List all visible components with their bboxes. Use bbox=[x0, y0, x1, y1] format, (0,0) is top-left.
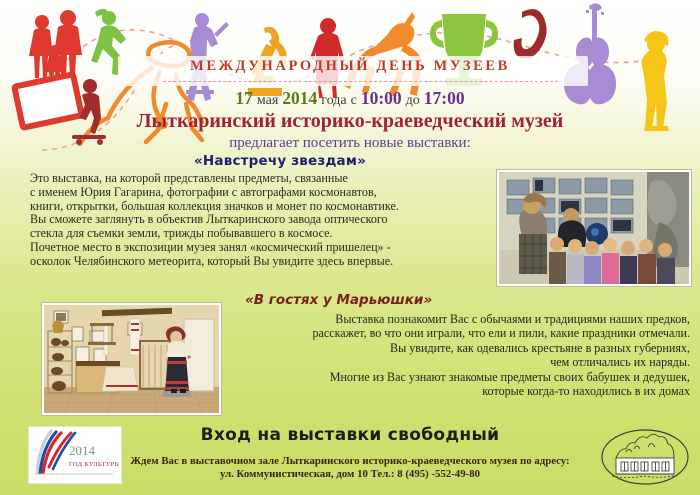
event-title: МЕЖДУНАРОДНЫЙ ДЕНЬ МУЗЕЕВ bbox=[0, 58, 700, 75]
museum-day-poster: МЕЖДУНАРОДНЫЙ ДЕНЬ МУЗЕЕВ 17 мая 2014 го… bbox=[0, 0, 700, 495]
date-word-year: года bbox=[321, 93, 346, 108]
header-dashed-divider bbox=[163, 81, 558, 82]
theater-mask-icon bbox=[514, 9, 547, 58]
exhibit-one-description: Это выставка, на которой представлены пр… bbox=[30, 172, 430, 269]
exhibit-two-photo bbox=[42, 303, 221, 415]
exhibit-two-line: Вы увидите, как одевались крестьяне в ра… bbox=[230, 341, 690, 355]
exhibit-one-photo bbox=[497, 170, 691, 286]
time-close: 17:00 bbox=[424, 88, 465, 108]
museum-name: Лыткаринский историко-краеведческий музе… bbox=[0, 110, 700, 133]
time-open: 10:00 bbox=[361, 88, 402, 108]
museum-seal bbox=[600, 428, 692, 488]
exhibit-one-line: Это выставка, на которой представлены пр… bbox=[30, 172, 430, 186]
exhibit-one-line: осколок Челябинского метеорита, который … bbox=[30, 255, 430, 269]
exhibit-one-line: стекла для съемки земли, трижды побывавш… bbox=[30, 227, 430, 241]
museum-subtitle: предлагает посетить новые выставки: bbox=[0, 135, 700, 152]
exhibit-two-title: «В гостях у Марьюшки» bbox=[245, 292, 565, 308]
exhibit-one-line: Почетное место в экспозиции музея занял … bbox=[30, 241, 430, 255]
exhibit-one-line: Вы сможете заглянуть в объектив Лыткарин… bbox=[30, 213, 430, 227]
exhibit-two-description: Выставка познакомит Вас с обычаями и тра… bbox=[230, 312, 690, 398]
date-time-line: 17 мая 2014 года с 10:00 до 17:00 bbox=[0, 88, 700, 109]
exhibit-one-line: книги, открытки, большая коллекция значк… bbox=[30, 200, 430, 214]
culture-logo-caption: ГОД КУЛЬТУРЫ bbox=[69, 461, 119, 468]
date-day: 17 bbox=[235, 88, 253, 108]
exhibit-two-line: Многие из Вас узнают знакомые предметы с… bbox=[230, 370, 690, 384]
culture-logo-year: 2014 bbox=[69, 443, 96, 458]
date-month: мая bbox=[257, 93, 278, 108]
exhibit-one-title: «Навстречу звездам» bbox=[130, 153, 430, 169]
museum-building-icon bbox=[612, 434, 678, 477]
exhibit-two-line: чем отличались их наряды. bbox=[230, 355, 690, 369]
exhibit-two-line: расскажет, во что они играли, что ели и … bbox=[230, 326, 690, 340]
word-to: до bbox=[406, 93, 420, 108]
date-year: 2014 bbox=[282, 88, 317, 108]
word-from: с bbox=[351, 93, 357, 108]
exhibit-one-line: с именем Юрия Гагарина, фотографии с авт… bbox=[30, 186, 430, 200]
exhibit-two-line: Выставка познакомит Вас с обычаями и тра… bbox=[230, 312, 690, 326]
year-of-culture-logo: 2014 ГОД КУЛЬТУРЫ bbox=[28, 426, 122, 484]
exhibit-two-line: которые когда-то находились в их домах bbox=[230, 384, 690, 398]
